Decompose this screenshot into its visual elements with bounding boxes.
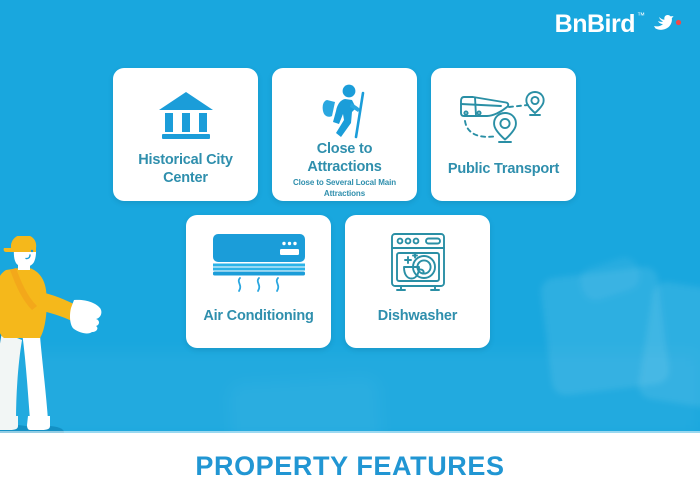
bus-route-pins-icon — [457, 84, 551, 146]
feature-card-title: Dishwasher — [378, 307, 457, 325]
feature-card-close-to-attractions[interactable]: Close to Attractions Close to Several Lo… — [272, 68, 417, 201]
feature-cards-row-top: Historical City Center Cl — [113, 68, 576, 201]
background-pillow — [576, 254, 644, 305]
background-pillow — [539, 265, 671, 397]
brand-name: BnBird — [555, 9, 635, 39]
property-features-slide: BnBird ™ Historical City Center — [0, 0, 700, 500]
trademark-symbol: ™ — [637, 10, 645, 22]
feature-card-text: Air Conditioning — [193, 293, 324, 339]
air-conditioner-icon — [209, 231, 309, 293]
feature-card-air-conditioning[interactable]: Air Conditioning — [186, 215, 331, 348]
page-title: PROPERTY FEATURES — [195, 451, 504, 482]
feature-card-text: Public Transport — [438, 146, 569, 192]
feature-card-text: Dishwasher — [352, 293, 483, 339]
bank-building-icon — [157, 84, 215, 146]
footer-banner: PROPERTY FEATURES — [0, 433, 700, 500]
feature-card-title: Public Transport — [448, 160, 559, 178]
feature-card-text: Close to Attractions Close to Several Lo… — [279, 140, 410, 199]
feature-card-title: Historical City Center — [120, 151, 251, 187]
feature-card-historical-city-center[interactable]: Historical City Center — [113, 68, 258, 201]
feature-card-text: Historical City Center — [120, 146, 251, 192]
feature-card-public-transport[interactable]: Public Transport — [431, 68, 576, 201]
feature-card-title: Close to Attractions — [279, 140, 410, 176]
welcoming-person-illustration — [0, 236, 116, 438]
feature-card-subtitle: Close to Several Local Main Attractions — [279, 178, 410, 199]
dishwasher-icon — [388, 231, 448, 293]
background-pillow — [636, 280, 700, 414]
bird-icon — [652, 14, 682, 41]
brand-logo[interactable]: BnBird ™ — [555, 9, 682, 43]
feature-cards-row-bottom: Air Conditioning — [186, 215, 490, 348]
hiker-icon — [319, 84, 371, 140]
feature-card-dishwasher[interactable]: Dishwasher — [345, 215, 490, 348]
feature-card-title: Air Conditioning — [203, 307, 313, 325]
